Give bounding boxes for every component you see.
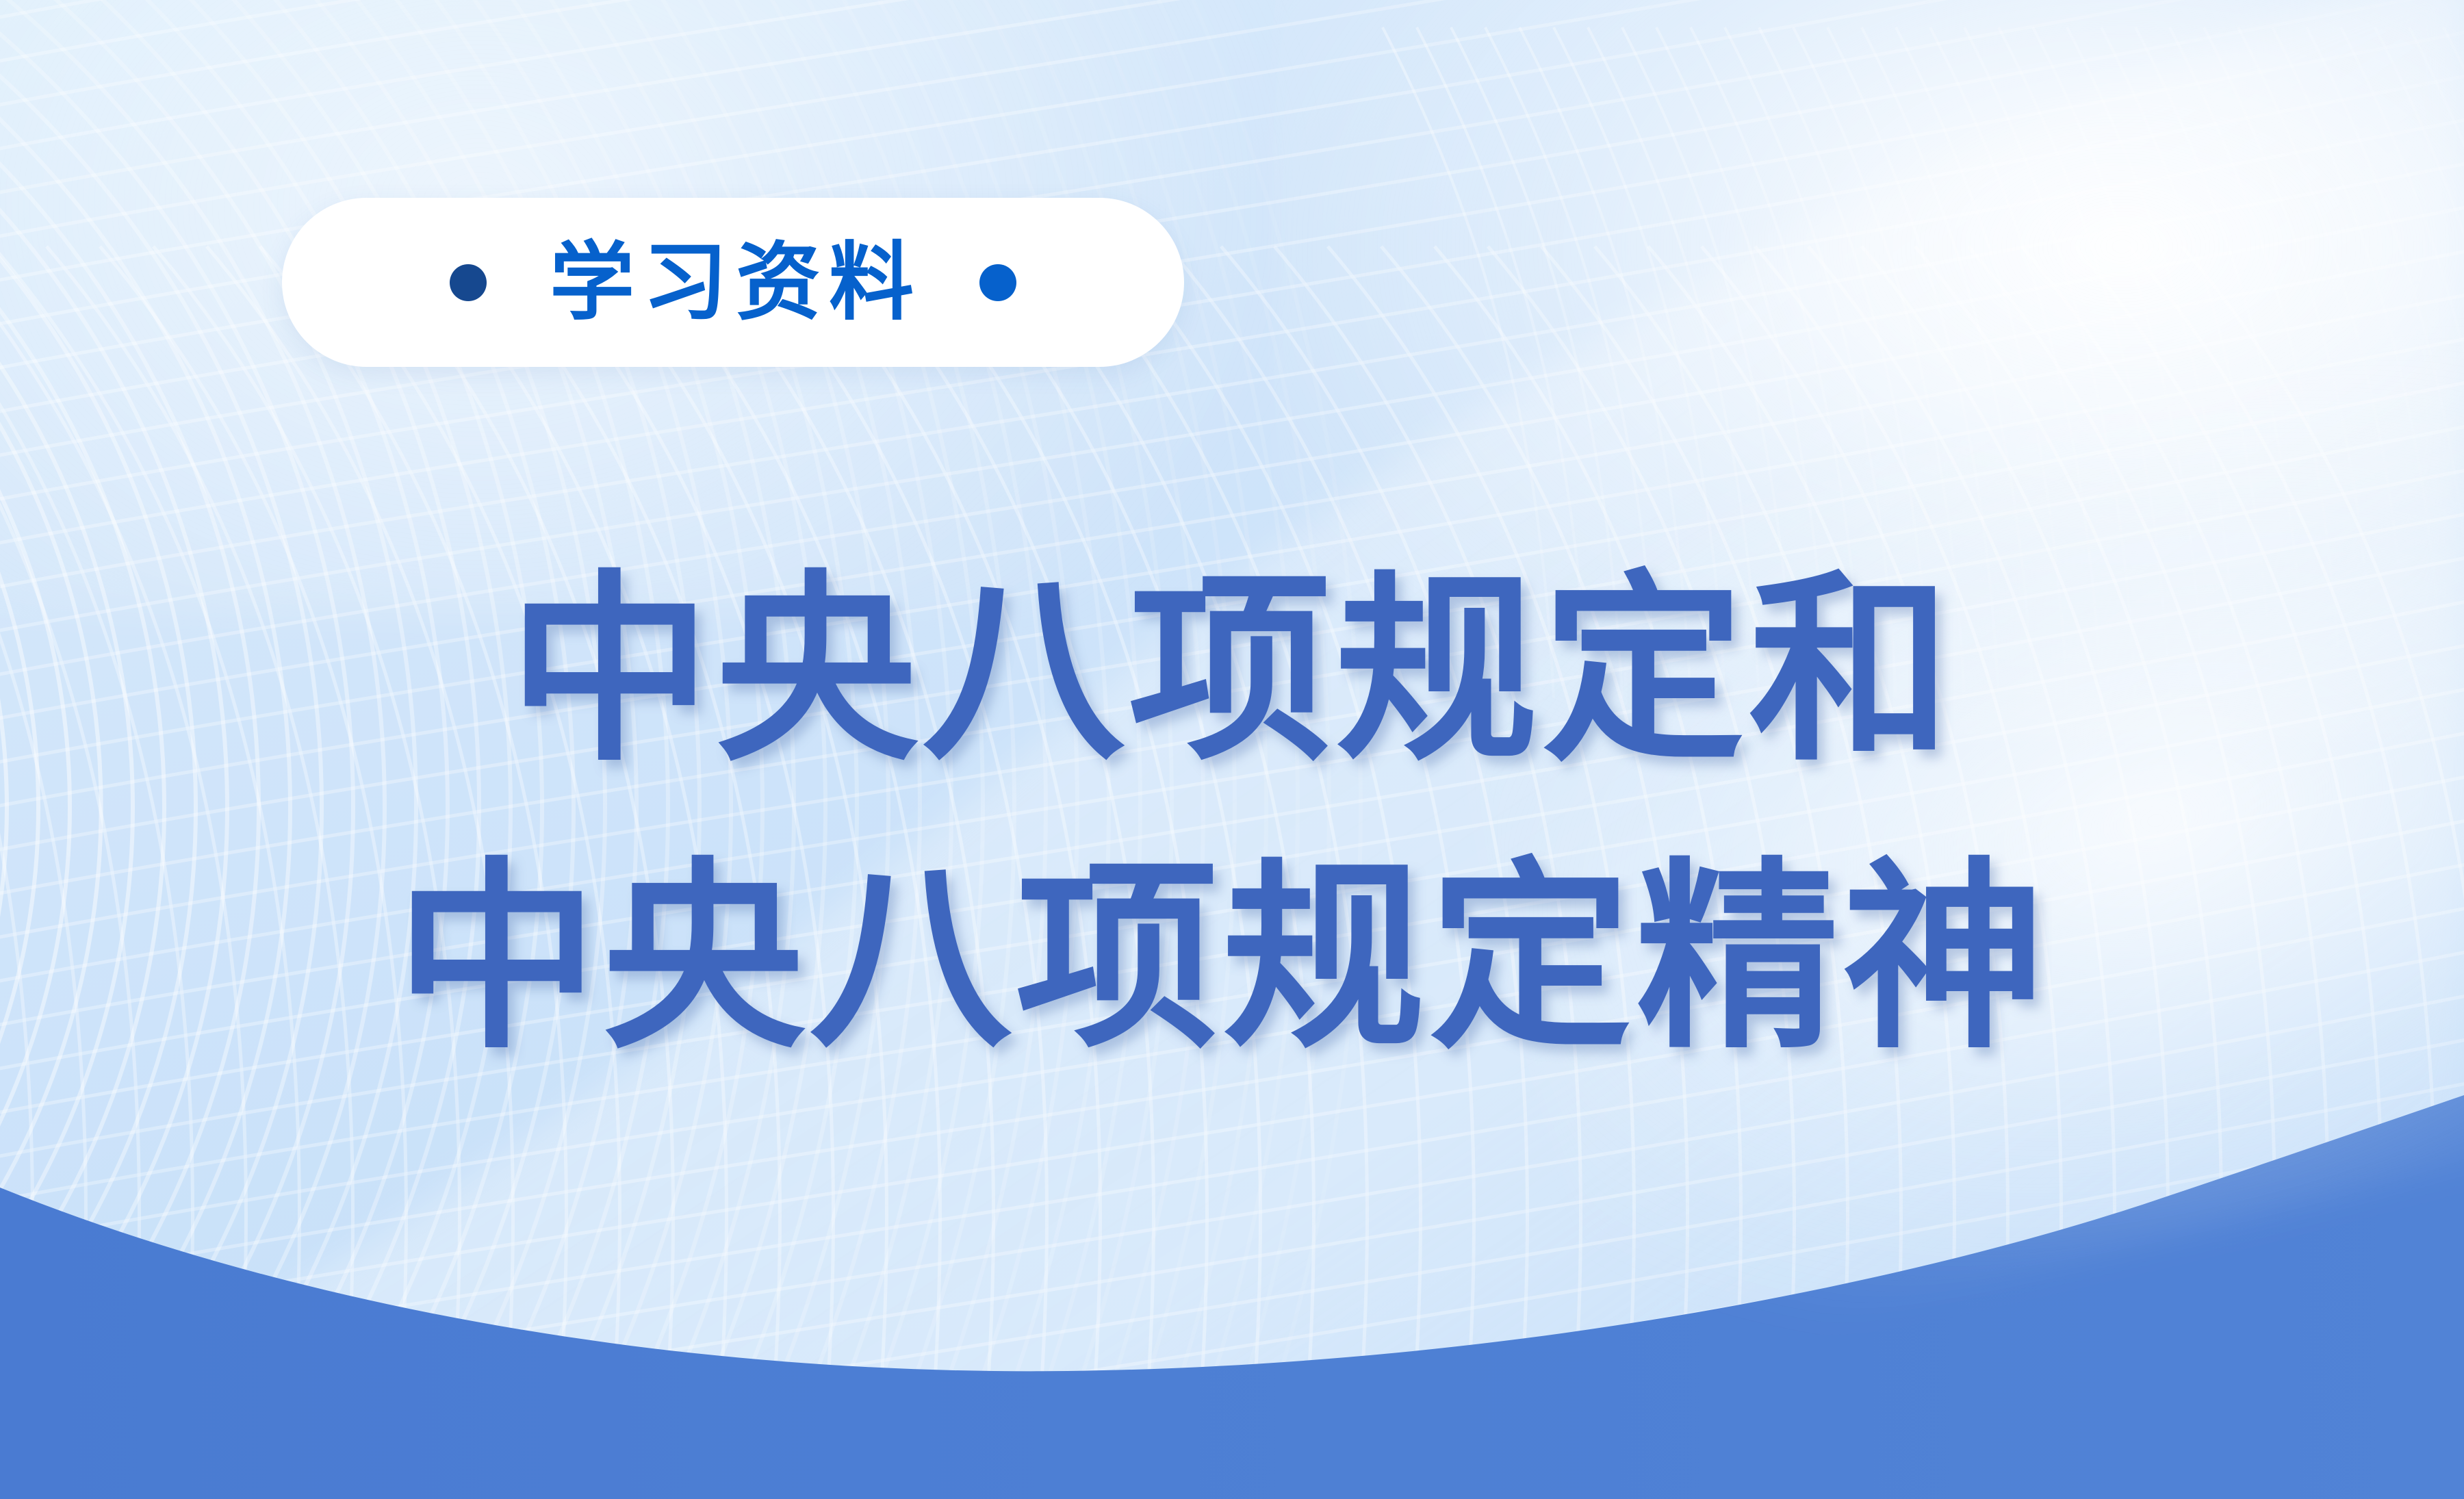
bullet-dot-left-icon: [450, 264, 487, 301]
study-material-badge[interactable]: 学习资料: [282, 198, 1184, 367]
poster-canvas: 学习资料 中央八项规定和 中央八项规定精神: [0, 0, 2464, 1499]
bullet-dot-right-icon: [979, 264, 1016, 301]
badge-label: 学习资料: [544, 240, 922, 325]
